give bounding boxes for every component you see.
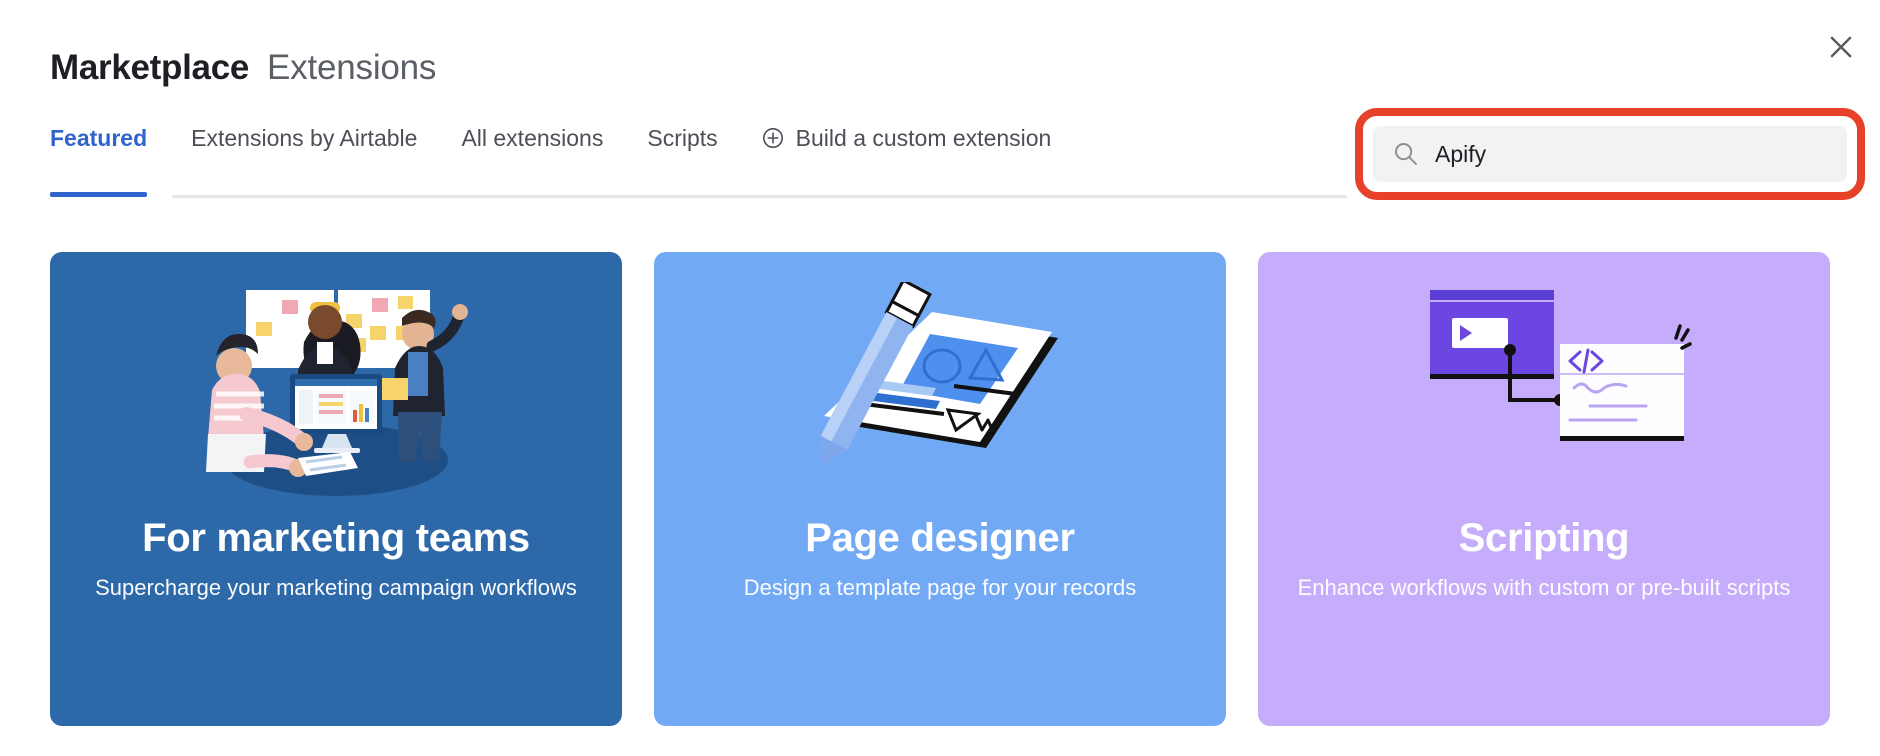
tab-divider [172,195,1347,198]
card-title: For marketing teams [142,516,530,560]
close-icon [1827,33,1855,61]
featured-cards-grid: For marketing teams Supercharge your mar… [50,252,1830,726]
card-subtitle: Design a template page for your records [716,574,1165,602]
tab-featured-label: Featured [50,108,147,168]
card-for-marketing-teams[interactable]: For marketing teams Supercharge your mar… [50,252,622,726]
tab-build-custom-extension[interactable]: Build a custom extension [762,108,1052,168]
tab-build-custom-extension-label: Build a custom extension [796,108,1052,168]
search-annotation-box [1355,108,1865,200]
tab-bar: Featured Extensions by Airtable All exte… [50,108,1051,198]
tab-extensions-by-airtable[interactable]: Extensions by Airtable [191,108,417,168]
card-title: Page designer [805,516,1075,560]
tab-extensions-by-airtable-label: Extensions by Airtable [191,108,417,168]
search-input[interactable] [1435,141,1827,168]
title-extensions: Extensions [267,48,436,88]
tab-featured[interactable]: Featured [50,108,147,168]
title-marketplace: Marketplace [50,48,249,88]
search-box[interactable] [1373,126,1847,182]
tab-scripts-label: Scripts [647,108,717,168]
marketing-team-illustration [50,252,622,512]
card-page-designer[interactable]: Page designer Design a template page for… [654,252,1226,726]
close-button[interactable] [1820,26,1862,68]
card-subtitle: Supercharge your marketing campaign work… [67,574,605,602]
card-subtitle: Enhance workflows with custom or pre-bui… [1270,574,1819,602]
code-windows-illustration [1258,252,1830,512]
plus-circle-icon [762,127,784,149]
tab-scripts[interactable]: Scripts [647,108,717,168]
pencil-document-illustration [654,252,1226,512]
marketplace-extensions-panel: Marketplace Extensions Featured Extensio… [0,0,1880,756]
tab-all-extensions[interactable]: All extensions [461,108,603,168]
page-title: Marketplace Extensions [50,48,436,88]
card-scripting[interactable]: Scripting Enhance workflows with custom … [1258,252,1830,726]
tab-all-extensions-label: All extensions [461,108,603,168]
search-icon [1393,141,1419,167]
card-title: Scripting [1459,516,1630,560]
